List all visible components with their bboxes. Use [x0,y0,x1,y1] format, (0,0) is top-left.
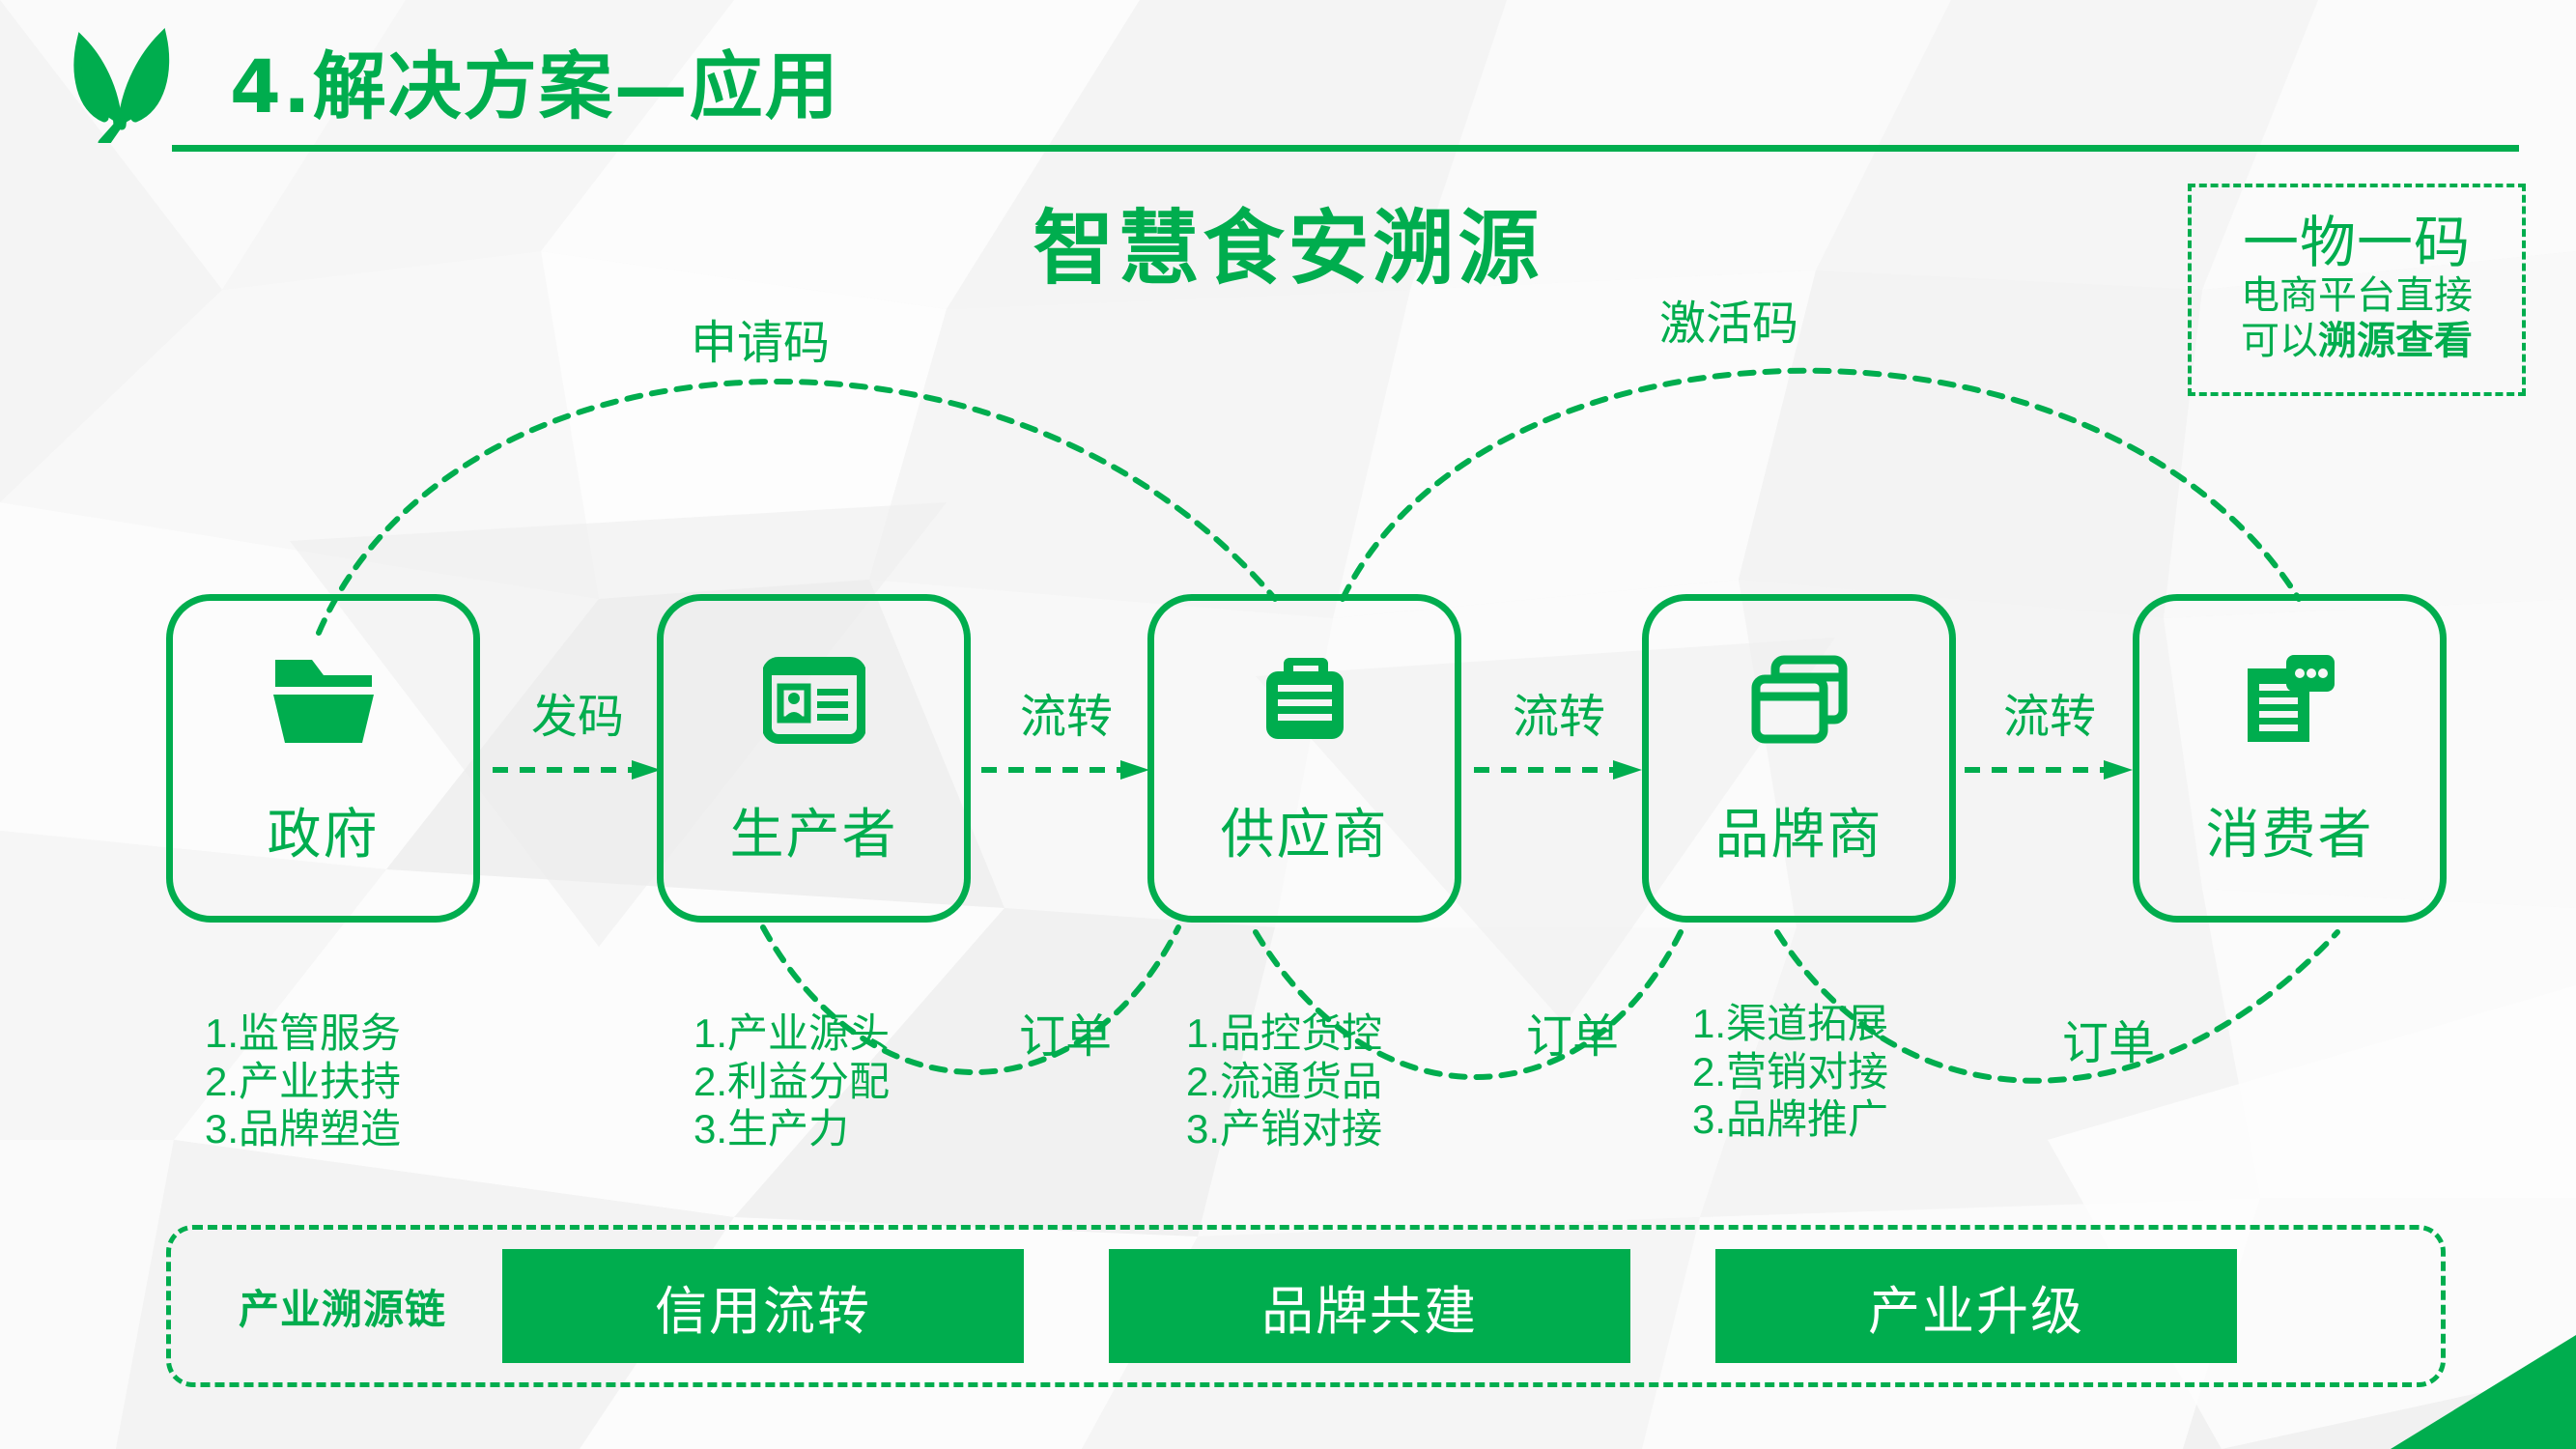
chip-brand-cobuild[interactable]: 品牌共建 [1109,1249,1630,1363]
chip-industry-upgrade[interactable]: 产业升级 [1715,1249,2237,1363]
callout-line-1: 电商平台直接 [2241,273,2473,319]
one-item-one-code-callout: 一物一码 电商平台直接 可以溯源查看 [2188,184,2526,396]
connector-issue-code: 发码 [491,734,665,811]
chip-group: 信用流转 品牌共建 产业升级 [502,1249,2237,1363]
bullet-item: 3.产销对接 [1186,1105,1382,1153]
header-divider [172,145,2519,152]
chain-label: 产业溯源链 [239,1277,446,1336]
corner-triangle-decoration [2391,1335,2576,1449]
node-label-brand-owner: 品牌商 [1649,791,1949,869]
connector-transfer-3: 流转 [1963,734,2137,811]
bullet-item: 3.生产力 [694,1105,890,1153]
node-label-consumer: 消费者 [2139,791,2440,869]
bullet-item: 2.流通货品 [1186,1058,1382,1106]
bullets-supplier: 1.品控货控 2.流通货品 3.产销对接 [1186,1009,1382,1153]
bullet-item: 2.利益分配 [694,1058,890,1106]
windows-stack-icon [1750,647,1849,753]
arc-label-activate-code: 激活码 [1659,285,1798,353]
callout-headline: 一物一码 [2243,214,2471,273]
node-consumer[interactable]: 消费者 [2133,594,2447,923]
traceability-chain-bar: 产业溯源链 信用流转 品牌共建 产业升级 [166,1225,2446,1387]
slide-header: 4.解决方案—应用 [0,0,2576,164]
arrow-right-icon [979,757,1153,782]
connector-label-transfer-3: 流转 [1963,678,2137,746]
arc-label-order-3: 订单 [2062,1005,2155,1072]
id-card-icon [763,647,865,753]
connector-transfer-1: 流转 [979,734,1153,811]
bullet-item: 1.监管服务 [205,1009,401,1058]
node-supplier[interactable]: 供应商 [1147,594,1461,923]
arc-label-order-2: 订单 [1526,998,1619,1065]
slide-canvas: 4.解决方案—应用 智慧食安溯源 一物一码 电商平台直接 可以溯源查看 申请码 … [0,0,2576,1449]
chip-credit-flow[interactable]: 信用流转 [502,1249,1024,1363]
folder-icon [271,647,376,753]
bullet-item: 1.渠道拓展 [1692,1000,1888,1048]
bullets-producer: 1.产业源头 2.利益分配 3.生产力 [694,1009,890,1153]
node-government[interactable]: 政府 [166,594,480,923]
bullets-brand-owner: 1.渠道拓展 2.营销对接 3.品牌推广 [1692,1000,1888,1144]
arc-label-apply-code: 申请码 [691,304,830,372]
node-label-supplier: 供应商 [1154,791,1455,869]
leaf-icon [60,17,185,143]
bullet-item: 3.品牌推广 [1692,1095,1888,1144]
arrow-right-icon [491,757,665,782]
briefcase-icon [1257,647,1353,753]
node-producer[interactable]: 生产者 [657,594,971,923]
callout-line-2-prefix: 可以 [2241,320,2318,362]
arrow-right-icon [1963,757,2137,782]
node-label-producer: 生产者 [664,791,964,869]
page-title: 4.解决方案—应用 [230,27,840,133]
bullets-government: 1.监管服务 2.产业扶持 3.品牌塑造 [205,1009,401,1153]
arc-label-order-1: 订单 [1019,998,1112,1065]
bullet-item: 2.营销对接 [1692,1048,1888,1096]
connector-label-transfer-1: 流转 [979,678,1153,746]
bullet-item: 2.产业扶持 [205,1058,401,1106]
connector-label-issue-code: 发码 [491,678,665,746]
bullet-item: 1.品控货控 [1186,1009,1382,1058]
callout-line-2-bold: 溯源查看 [2318,320,2473,362]
connector-transfer-2: 流转 [1472,734,1646,811]
node-label-government: 政府 [173,791,473,869]
document-chat-icon [2242,647,2338,753]
callout-line-2: 可以溯源查看 [2241,319,2473,364]
bullet-item: 1.产业源头 [694,1009,890,1058]
node-brand-owner[interactable]: 品牌商 [1642,594,1956,923]
arrow-right-icon [1472,757,1646,782]
connector-label-transfer-2: 流转 [1472,678,1646,746]
bullet-item: 3.品牌塑造 [205,1105,401,1153]
